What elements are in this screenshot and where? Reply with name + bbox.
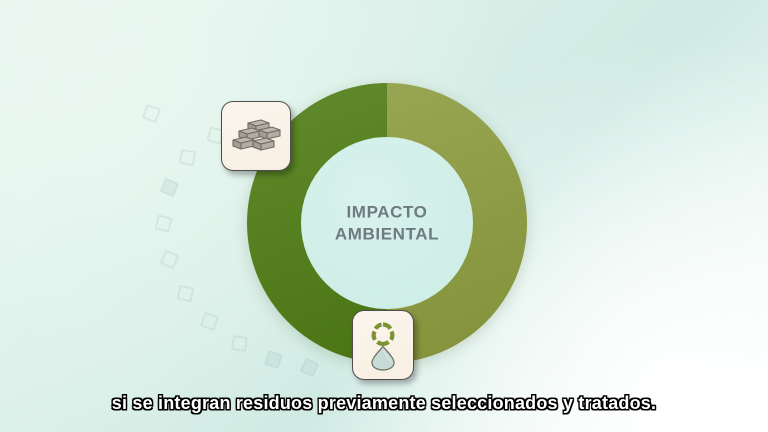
subtitle-text: si se integran residuos previamente sele… — [112, 393, 656, 414]
subtitle-bar: si se integran residuos previamente sele… — [0, 393, 768, 414]
water-recycle-icon-card[interactable] — [352, 310, 414, 380]
recycle-symbol-icon — [374, 325, 393, 344]
decorative-square — [160, 250, 180, 270]
decorative-square — [177, 285, 195, 303]
decorative-square — [200, 312, 219, 331]
donut-center-label: IMPACTO AMBIENTAL — [302, 201, 472, 245]
water-recycle-icon — [362, 319, 404, 371]
bricks-stack-icon — [231, 114, 281, 158]
water-droplet-icon — [372, 347, 394, 371]
decorative-square — [142, 104, 161, 123]
slide-canvas: IMPACTO AMBIENTAL — [0, 0, 768, 432]
decorative-square — [231, 335, 248, 352]
decorative-square — [154, 214, 172, 232]
decorative-square — [179, 149, 196, 166]
decorative-square — [160, 178, 180, 198]
bricks-icon-card[interactable] — [221, 101, 291, 171]
donut-center-line-2: AMBIENTAL — [302, 223, 472, 245]
donut-center-line-1: IMPACTO — [302, 201, 472, 223]
